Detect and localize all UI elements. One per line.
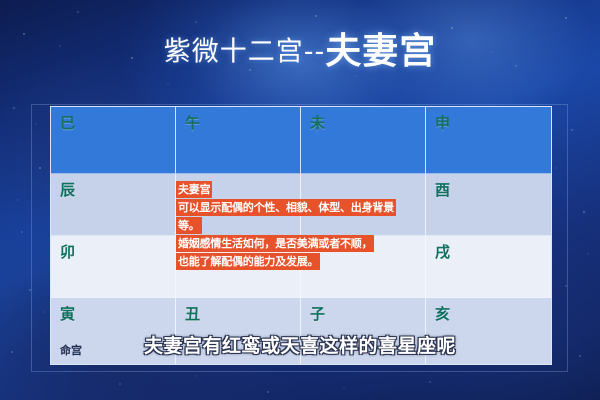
palace-cell-si[interactable]: 巳 [51, 107, 176, 174]
branch-label: 子 [310, 303, 325, 324]
palace-cell-mao[interactable]: 卯 [51, 236, 176, 298]
palace-cell-wu[interactable]: 午 [176, 107, 301, 174]
palace-cell-xu[interactable]: 戌 [426, 236, 551, 298]
video-subtitle-caption: 夫妻宫有红鸾或天喜这样的喜星座呢 [0, 331, 600, 358]
palace-cell-wei[interactable]: 未 [301, 107, 426, 174]
annotation-line: 可以显示配偶的个性、相貌、体型、出身背景 [176, 198, 412, 214]
video-frame: 紫微十二宫--夫妻宫 巳 午 未 申 辰 酉 卯 戌 [0, 0, 600, 400]
branch-label: 申 [435, 112, 450, 133]
annotation-heading-line: 夫妻宫 [176, 180, 412, 196]
branch-label: 亥 [435, 303, 450, 324]
branch-label: 酉 [435, 179, 450, 200]
branch-label: 巳 [60, 112, 75, 133]
annotation-line: 等。 [176, 216, 412, 232]
palace-cell-you[interactable]: 酉 [426, 174, 551, 236]
spouse-palace-annotation: 夫妻宫 可以显示配偶的个性、相貌、体型、出身背景 等。 婚姻感情生活如何，是否美… [176, 180, 412, 270]
annotation-line-text: 婚姻感情生活如何，是否美满或者不顺， [176, 235, 374, 252]
branch-label: 丑 [185, 303, 200, 324]
page-title-prefix: 紫微十二宫-- [164, 37, 326, 68]
branch-label: 戌 [435, 241, 450, 262]
annotation-line: 也能了解配偶的能力及发展。 [176, 252, 412, 268]
annotation-heading: 夫妻宫 [176, 181, 212, 198]
annotation-line: 婚姻感情生活如何，是否美满或者不顺， [176, 234, 412, 250]
page-title-emphasis: 夫妻宫 [325, 31, 436, 72]
palace-cell-chen[interactable]: 辰 [51, 174, 176, 236]
branch-label: 卯 [60, 241, 75, 262]
palace-cell-shen[interactable]: 申 [426, 107, 551, 174]
annotation-line-text: 可以显示配偶的个性、相貌、体型、出身背景 [176, 199, 396, 216]
branch-label: 午 [185, 112, 200, 133]
annotation-line-text: 也能了解配偶的能力及发展。 [176, 253, 320, 270]
annotation-line-text: 等。 [176, 217, 202, 234]
page-title: 紫微十二宫--夫妻宫 [0, 34, 600, 70]
branch-label: 寅 [60, 303, 75, 324]
branch-label: 辰 [60, 179, 75, 200]
branch-label: 未 [310, 112, 325, 133]
